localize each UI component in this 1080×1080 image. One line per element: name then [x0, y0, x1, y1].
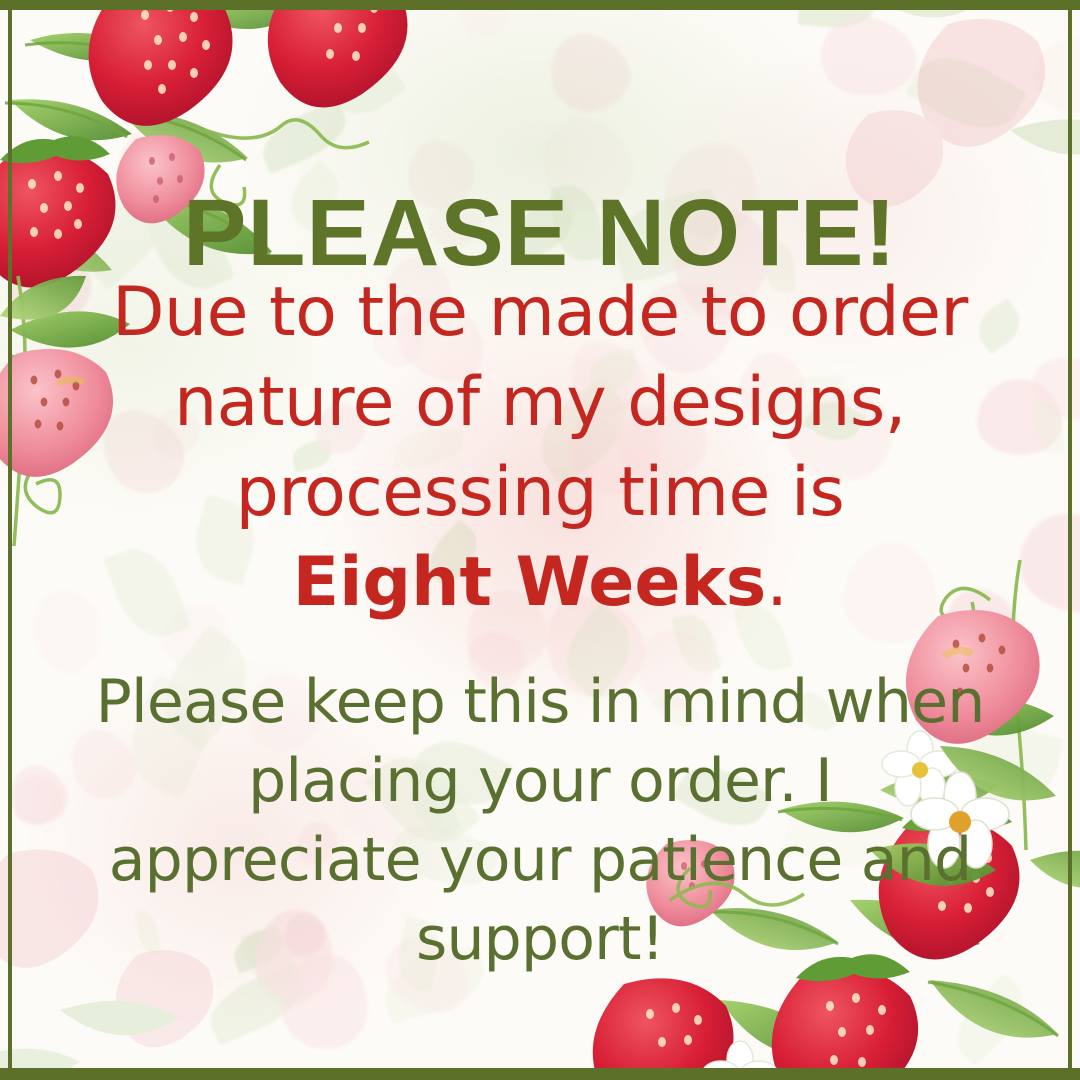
notice-paragraph: Due to the made to order nature of my de…: [52, 268, 1028, 628]
notice-line-3: processing time is: [52, 448, 1028, 538]
processing-time-value: Eight Weeks: [293, 543, 767, 622]
notice-emphasis-line: Eight Weeks.: [52, 538, 1028, 628]
poster-canvas: PLEASE NOTE! Due to the made to order na…: [0, 0, 1080, 1080]
message-content: PLEASE NOTE! Due to the made to order na…: [0, 0, 1080, 1080]
closing-line-2: placing your order. I: [46, 742, 1034, 821]
frame-border-right: [1068, 0, 1072, 1080]
frame-border-left: [8, 0, 12, 1080]
notice-line-1: Due to the made to order: [52, 268, 1028, 358]
notice-emphasis-trailing: .: [766, 543, 787, 622]
closing-line-4: support!: [46, 900, 1034, 979]
notice-line-2: nature of my designs,: [52, 358, 1028, 448]
page-title: PLEASE NOTE!: [0, 186, 1080, 281]
closing-line-1: Please keep this in mind when: [46, 663, 1034, 742]
frame-border-top: [0, 0, 1080, 10]
closing-line-3: appreciate your patience and: [46, 821, 1034, 900]
frame-border-bottom: [0, 1068, 1080, 1080]
closing-paragraph: Please keep this in mind when placing yo…: [46, 663, 1034, 979]
